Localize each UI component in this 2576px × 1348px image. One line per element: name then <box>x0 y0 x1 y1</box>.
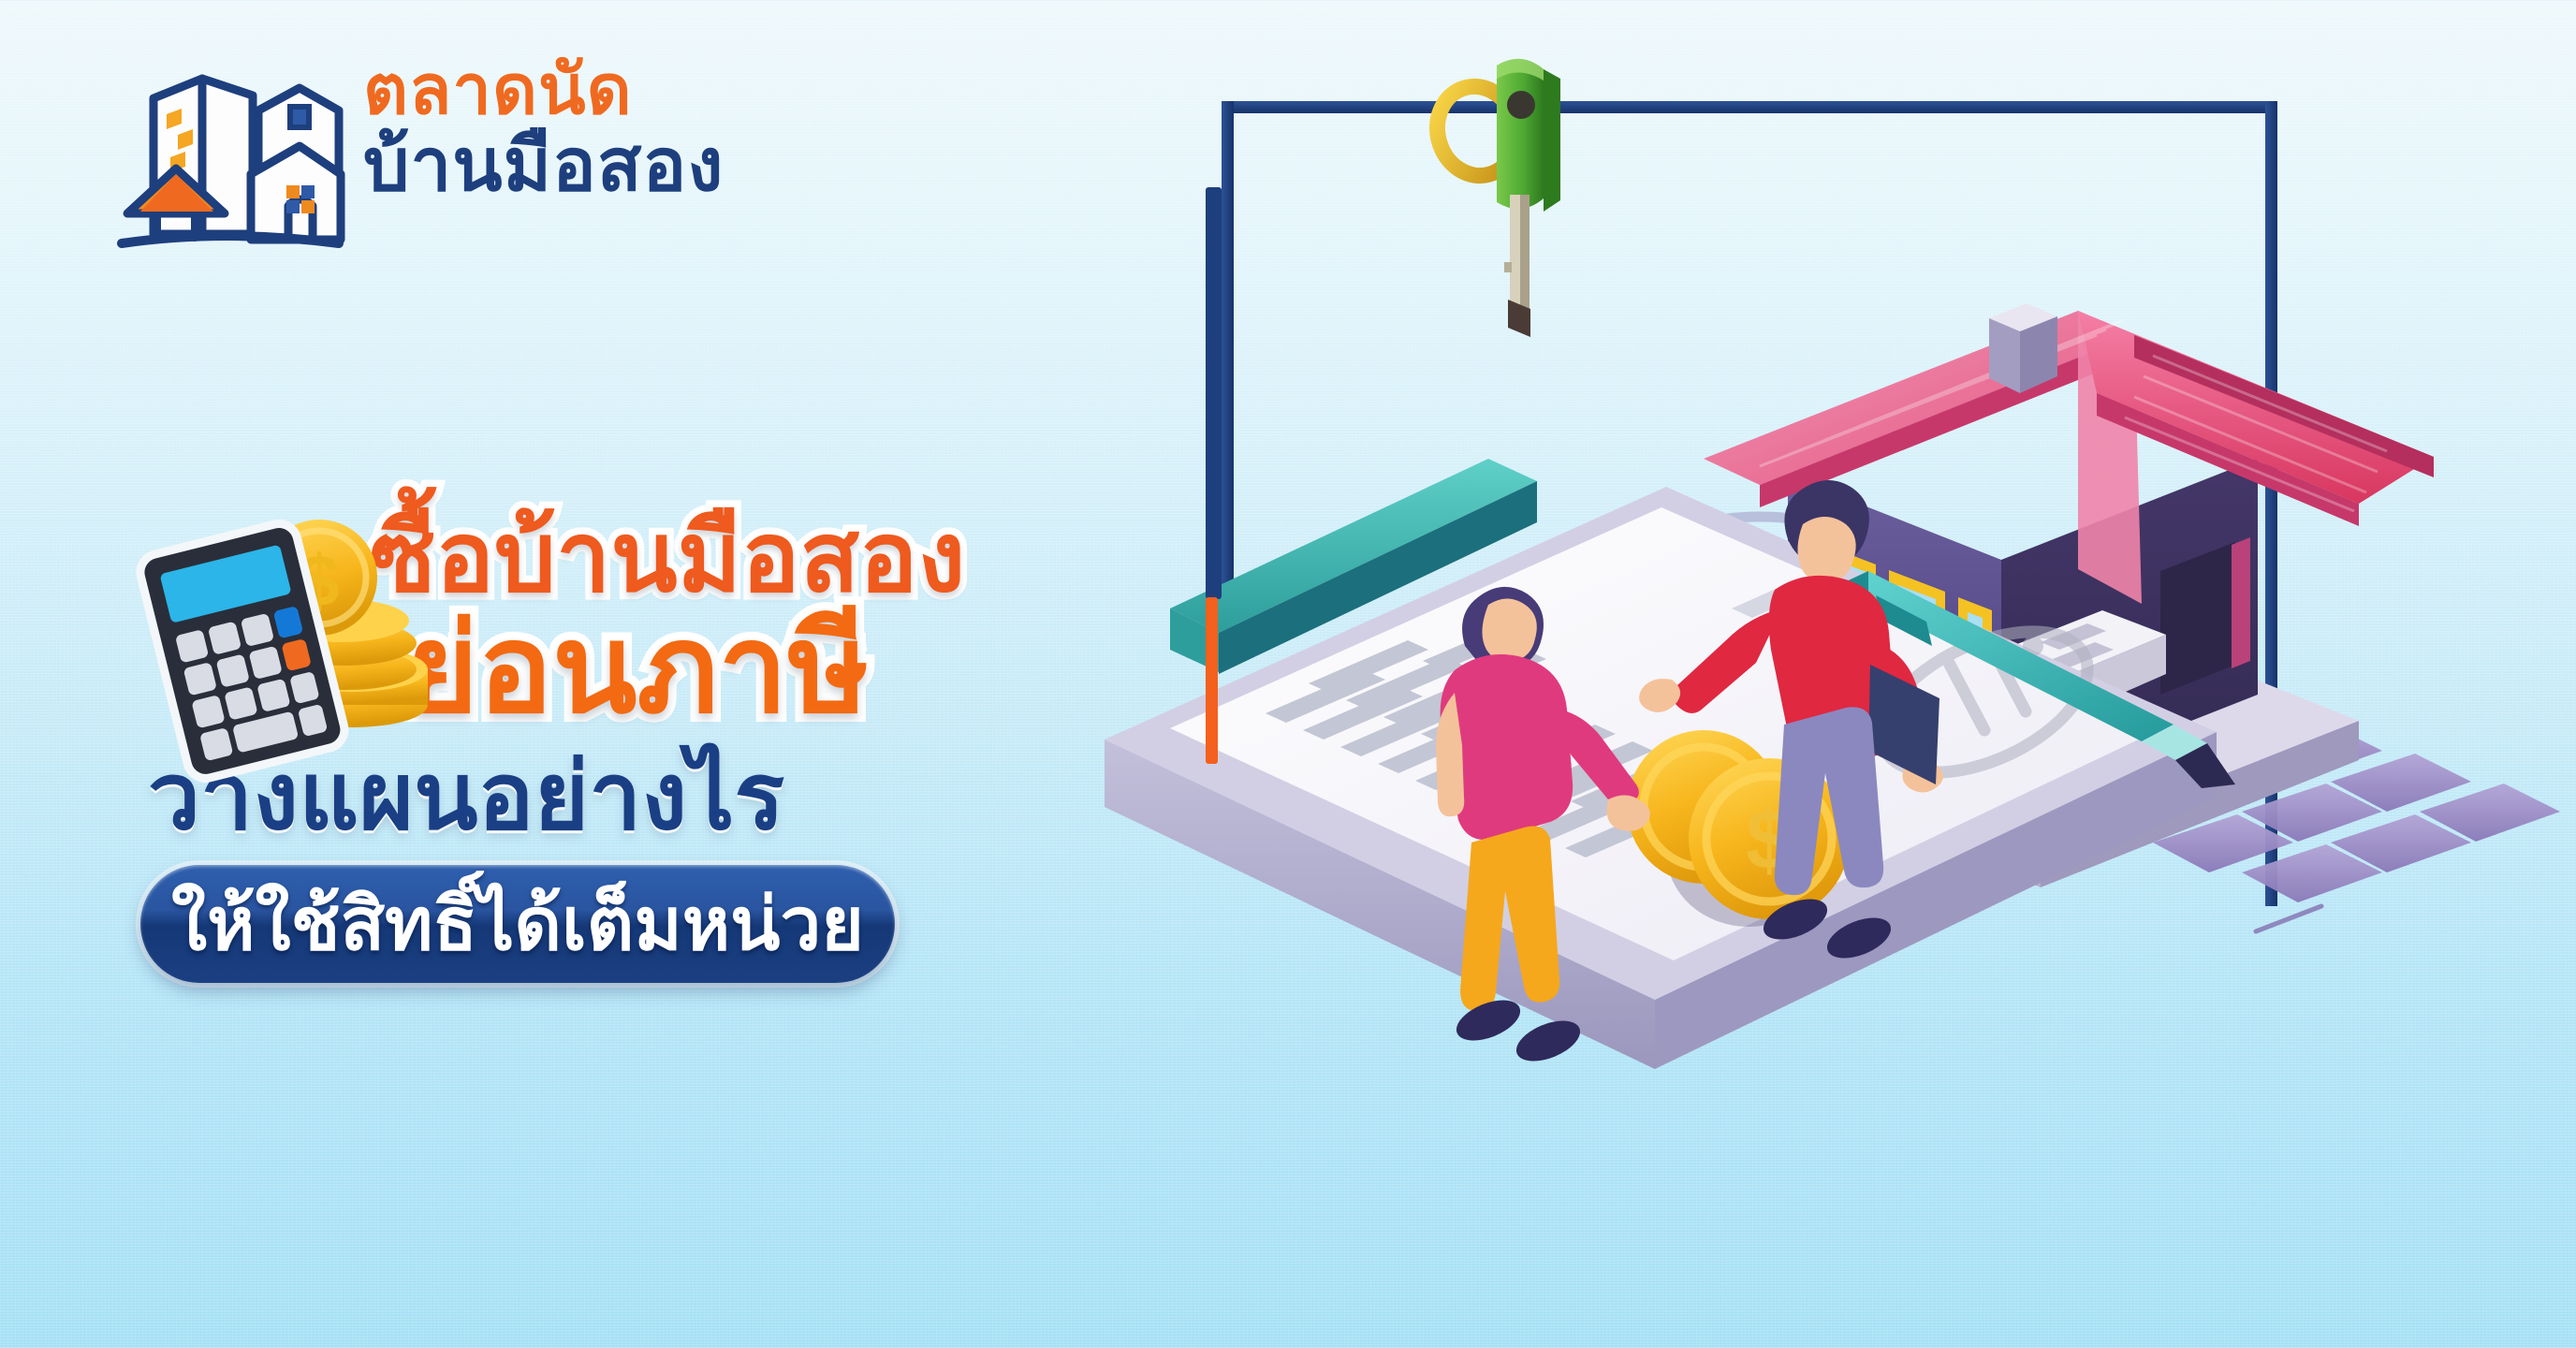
brand-name-line2: บ้านมือสอง <box>363 128 756 203</box>
headline-pill-badge[interactable]: ให้ใช้สิทธิ์ได้เต็มหน่วย <box>140 865 895 983</box>
isometric-illustration: $ <box>1048 84 2576 1301</box>
chimney-icon <box>1989 303 2057 393</box>
buildings-house-logo-icon <box>112 56 346 253</box>
brand-wordmark: ตลาดนัด บ้านมือสอง <box>363 56 756 243</box>
calculator-icon: $ <box>145 520 463 800</box>
headline-pill-label: ให้ใช้สิทธิ์ได้เต็มหน่วย <box>171 866 864 982</box>
headline-line-1: ซื้อบ้านมือสอง <box>370 505 1217 610</box>
brand-name-line1: ตลาดนัด <box>363 56 756 125</box>
brand-logo[interactable]: ตลาดนัด บ้านมือสอง <box>112 49 749 255</box>
green-house-key-icon <box>1418 45 1596 363</box>
illustration-svg: $ <box>1048 84 2576 1301</box>
